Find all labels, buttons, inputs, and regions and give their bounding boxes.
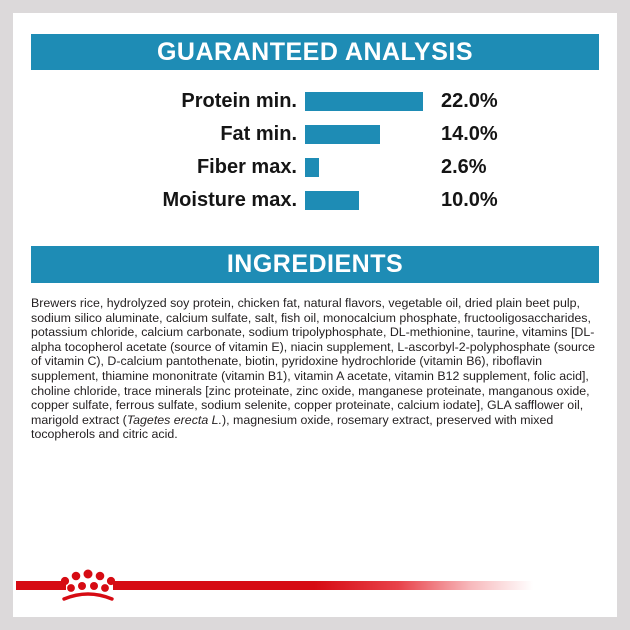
ingredients-header: INGREDIENTS [31, 246, 599, 283]
analysis-bar-fiber [305, 158, 319, 177]
analysis-label-fat: Fat min. [13, 123, 305, 146]
analysis-value-moisture: 10.0% [435, 189, 498, 212]
guaranteed-analysis-table: Protein min. 22.0% Fat min. 14.0% Fiber … [13, 85, 617, 217]
analysis-label-moisture: Moisture max. [13, 189, 305, 212]
analysis-row-fat: Fat min. 14.0% [13, 118, 617, 151]
analysis-barwrap-fat [305, 118, 435, 151]
analysis-label-fiber: Fiber max. [13, 156, 305, 179]
label-outer-frame: GUARANTEED ANALYSIS Protein min. 22.0% F… [0, 0, 630, 630]
analysis-barwrap-fiber [305, 151, 435, 184]
ingredients-text-part-1: Brewers rice, hydrolyzed soy protein, ch… [31, 296, 595, 427]
analysis-row-fiber: Fiber max. 2.6% [13, 151, 617, 184]
analysis-bar-fat [305, 125, 380, 144]
analysis-value-protein: 22.0% [435, 90, 498, 113]
brand-stripe-left [16, 581, 66, 590]
analysis-barwrap-protein [305, 85, 435, 118]
analysis-barwrap-moisture [305, 184, 435, 217]
analysis-row-moisture: Moisture max. 10.0% [13, 184, 617, 217]
brand-band [13, 558, 617, 617]
royal-canin-crown-icon [60, 566, 120, 606]
guaranteed-analysis-header: GUARANTEED ANALYSIS [31, 34, 599, 70]
ingredients-text: Brewers rice, hydrolyzed soy protein, ch… [31, 296, 603, 442]
label-page: GUARANTEED ANALYSIS Protein min. 22.0% F… [13, 13, 617, 617]
analysis-bar-moisture [305, 191, 359, 210]
analysis-value-fiber: 2.6% [435, 156, 487, 179]
analysis-value-fat: 14.0% [435, 123, 498, 146]
analysis-bar-protein [305, 92, 423, 111]
ingredients-botanical-name: Tagetes erecta L. [127, 413, 222, 427]
brand-stripe-right [113, 581, 533, 590]
analysis-row-protein: Protein min. 22.0% [13, 85, 617, 118]
analysis-label-protein: Protein min. [13, 90, 305, 113]
